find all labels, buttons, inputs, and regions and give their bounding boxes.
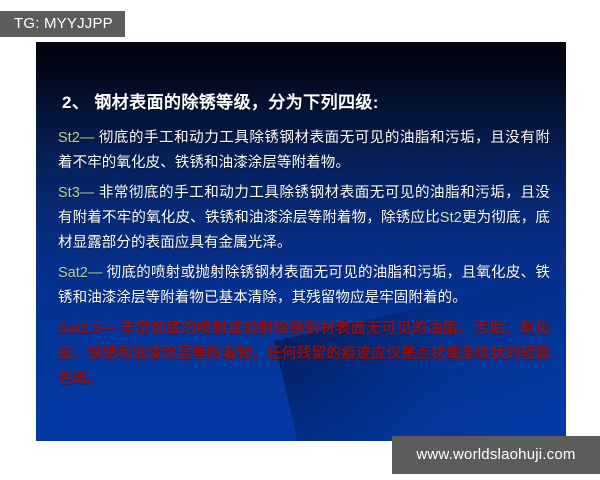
- grade-paragraph-st3: St3— 非常彻底的手工和动力工具除锈钢材表面无可见的油脂和污垢，且没有附着不牢…: [58, 181, 550, 256]
- grade-dash-st2: —: [80, 130, 95, 146]
- grade-text-sat2-5: 非常彻底的喷射或抛射除锈钢材表面无可见的油脂、污垢、氧化皮、铁锈和油漆涂层等附着…: [58, 321, 550, 387]
- presentation-slide: 2、 钢材表面的除锈等级，分为下列四级: St2— 彻底的手工和动力工具除锈钢材…: [36, 42, 566, 441]
- document-page: TG: MYYJJPP 2、 钢材表面的除锈等级，分为下列四级: St2— 彻底…: [0, 0, 600, 480]
- telegram-channel-badge: TG: MYYJJPP: [0, 11, 125, 37]
- grade-text-st2: 彻底的手工和动力工具除锈钢材表面无可见的油脂和污垢，且没有附着不牢的氧化皮、铁锈…: [58, 130, 550, 171]
- grade-label-st2: St2: [58, 130, 80, 146]
- grade-label-sat2: Sat2: [58, 265, 88, 281]
- grade-paragraph-sat2: Sat2— 彻底的喷射或抛射除锈钢材表面无可见的油脂和污垢，且氧化皮、铁锈和油漆…: [58, 261, 550, 311]
- grade-label-sat2-5: Sat2.5: [58, 321, 101, 337]
- grade-paragraph-sat2-5: Sat2.5— 非常彻底的喷射或抛射除锈钢材表面无可见的油脂、污垢、氧化皮、铁锈…: [58, 317, 550, 392]
- slide-title: 2、 钢材表面的除锈等级，分为下列四级:: [58, 42, 550, 113]
- grade-dash-st3: —: [80, 185, 95, 201]
- grade-inline-reference-st2: St2: [440, 210, 462, 226]
- grade-dash-sat2: —: [88, 265, 103, 281]
- slide-text-block: 2、 钢材表面的除锈等级，分为下列四级: St2— 彻底的手工和动力工具除锈钢材…: [58, 42, 550, 392]
- grade-text-sat2: 彻底的喷射或抛射除锈钢材表面无可见的油脂和污垢，且氧化皮、铁锈和油漆涂层等附着物…: [58, 265, 550, 306]
- grade-dash-sat2-5: —: [101, 321, 116, 337]
- grade-label-st3: St3: [58, 185, 80, 201]
- grade-paragraph-st2: St2— 彻底的手工和动力工具除锈钢材表面无可见的油脂和污垢，且没有附着不牢的氧…: [58, 126, 550, 176]
- site-watermark: www.worldslaohuji.com: [392, 436, 600, 474]
